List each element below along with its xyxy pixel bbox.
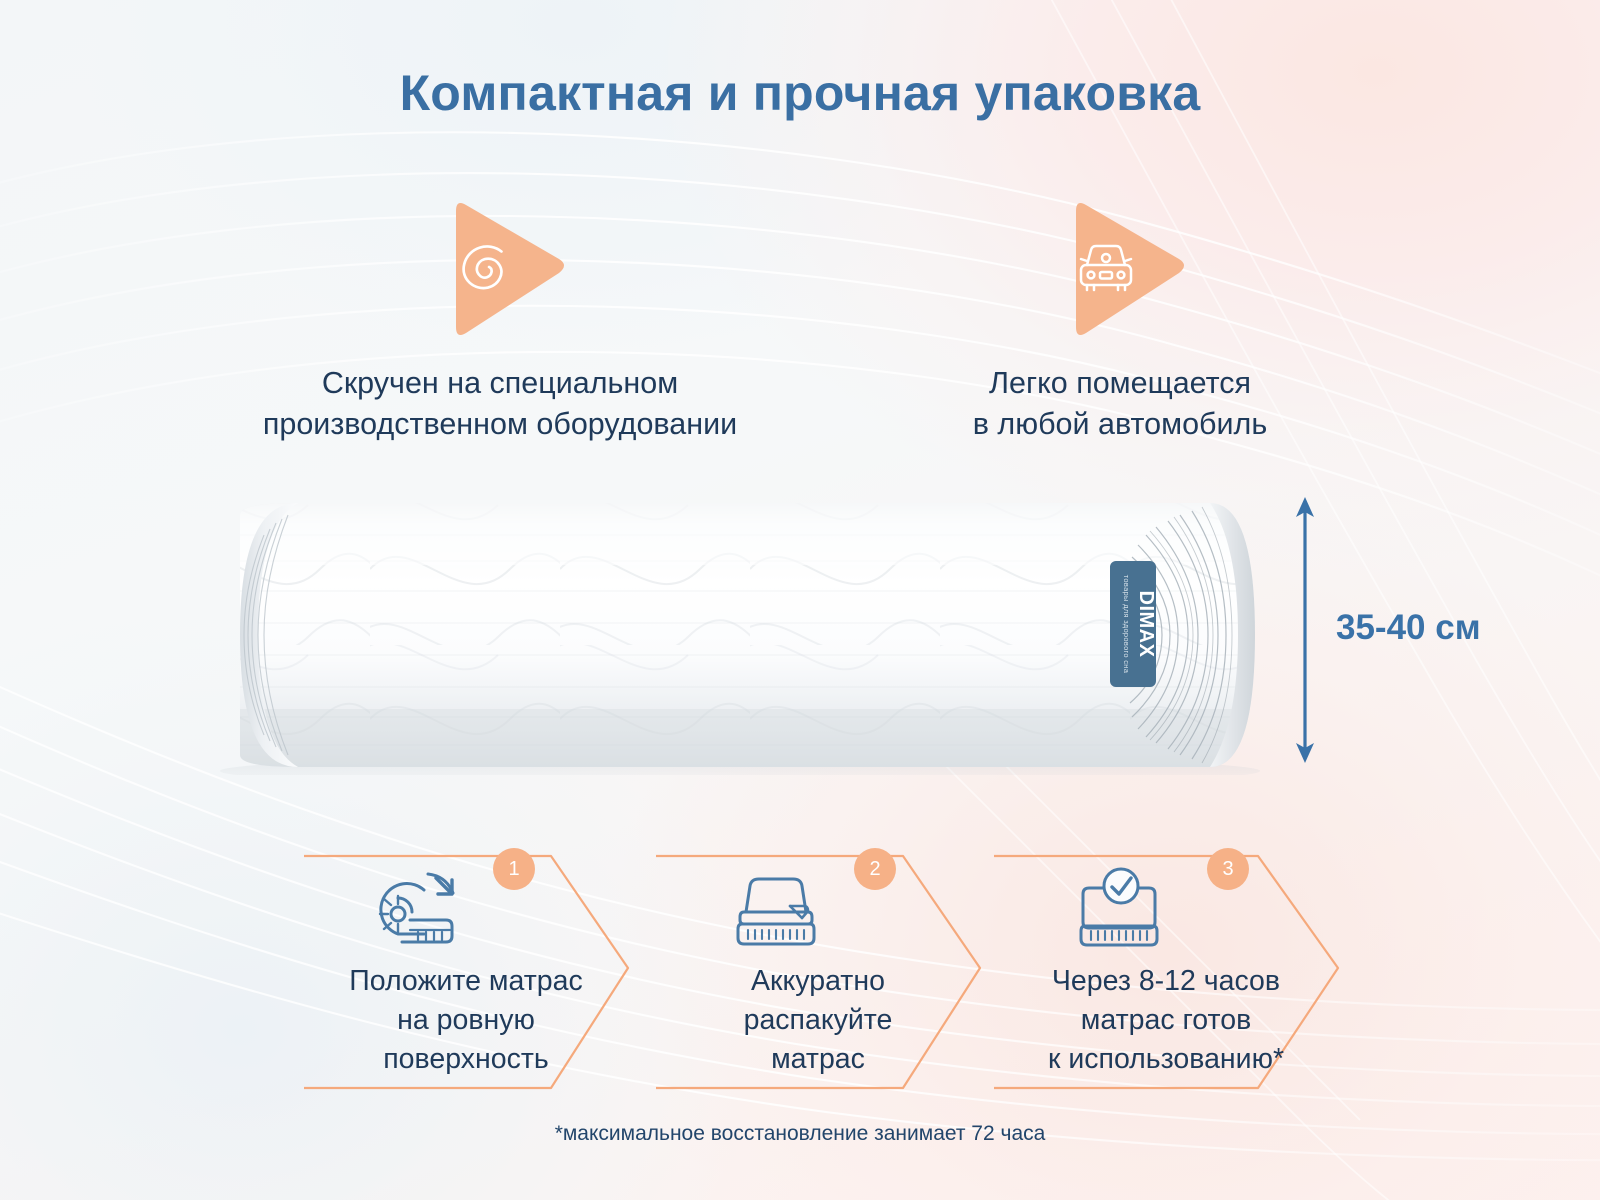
- brand-tag: DIMAX товары для здорового сна: [1110, 561, 1157, 687]
- step-label-1: Положите матрас на ровную поверхность: [296, 962, 636, 1079]
- step-number-badge: 1: [493, 848, 535, 890]
- steps-row: 1 Положите матрас на ровную поверхность: [0, 840, 1600, 1100]
- unpack-mattress-icon: [726, 866, 826, 952]
- svg-text:DIMAX: DIMAX: [1135, 591, 1157, 658]
- dimension-arrow: [1288, 495, 1322, 765]
- step-number-badge: 3: [1207, 848, 1249, 890]
- mattress-ready-check-icon: [1069, 866, 1169, 952]
- page-title: Компактная и прочная упаковка: [0, 64, 1600, 122]
- step-3: 3 Через 8-12 часов матрас готов к исполь…: [986, 840, 1346, 1095]
- step-number-badge: 2: [854, 848, 896, 890]
- step-1: 1 Положите матрас на ровную поверхность: [296, 840, 636, 1095]
- car-front-icon: [1070, 239, 1142, 299]
- feature-badge-1: [428, 195, 573, 343]
- feature-block-car: Легко помещается в любой автомобиль: [850, 195, 1390, 445]
- dimension-label: 35-40 см: [1336, 608, 1481, 648]
- footnote: *максимальное восстановление занимает 72…: [0, 1122, 1600, 1146]
- feature-label-2: Легко помещается в любой автомобиль: [850, 363, 1390, 445]
- svg-text:товары для здорового сна: товары для здорового сна: [1122, 575, 1131, 674]
- feature-label-1: Скручен на специальном производственном …: [180, 363, 820, 445]
- step-2: 2 Аккуратно распакуйте матрас: [648, 840, 988, 1095]
- step-label-2: Аккуратно распакуйте матрас: [648, 962, 988, 1079]
- spiral-roll-icon: [454, 235, 520, 301]
- feature-block-rolled: Скручен на специальном производственном …: [180, 195, 820, 445]
- step-label-3: Через 8-12 часов матрас готов к использо…: [986, 962, 1346, 1079]
- feature-badge-2: [1048, 195, 1193, 343]
- unrolling-mattress-icon: [366, 866, 466, 952]
- rolled-mattress-photo: DIMAX товары для здорового сна: [180, 495, 1280, 775]
- infographic-poster: Компактная и прочная упаковка Скручен на…: [0, 0, 1600, 1200]
